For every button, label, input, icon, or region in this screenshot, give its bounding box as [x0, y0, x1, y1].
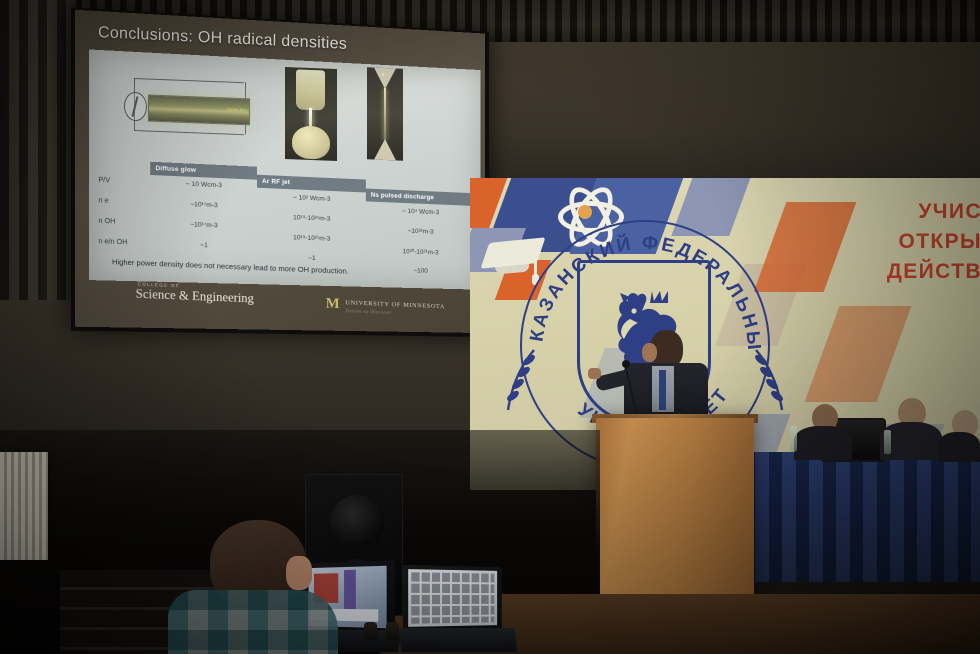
university-name: UNIVERSITY OF MINNESOTA	[345, 299, 445, 310]
audience-member-plaid-shirt	[168, 590, 338, 654]
table-header-ns-pulsed: Ns pulsed discharge	[366, 189, 475, 206]
wheat-left-icon	[502, 348, 542, 414]
laptop-keyboard-visible[interactable]	[404, 566, 516, 654]
radiator	[0, 452, 48, 560]
presenter-lanyard	[659, 370, 666, 410]
cell-rf-pv: ~ 10² Wcm-3	[257, 193, 366, 205]
row-label-noh: n OH	[98, 218, 115, 226]
discharge-channel	[384, 88, 386, 140]
diffuse-glow-circuit-figure: 15mm 1kV	[112, 71, 262, 157]
laptop2-screen[interactable]	[408, 569, 497, 627]
row-label-ne: n e	[98, 197, 108, 205]
stage-curtain-left	[0, 0, 78, 300]
cell-rf-ne: 10¹⁹-10²¹m-3	[257, 213, 366, 224]
cell-dg-noh: ~10¹⁷m-3	[150, 220, 257, 231]
cell-rf-noh: 10¹⁹-10²¹m-3	[257, 233, 366, 244]
cell-ns-pv: ~ 10⁴ Wcm-3	[366, 206, 475, 217]
atom-nucleus	[578, 205, 592, 219]
microphone-icon	[622, 360, 630, 368]
cell-dg-ratio: ~1	[150, 240, 257, 251]
jet-plasma-plume	[309, 108, 312, 127]
remote-clicker-2[interactable]	[386, 622, 399, 640]
cell-dg-pv: ~ 10 Wcm-3	[150, 179, 257, 191]
glow-discharge-tube: 15mm 1kV	[148, 95, 250, 126]
oh-density-table: Diffuse glow Ar RF jet Ns pulsed dischar…	[96, 159, 467, 266]
panel-table	[742, 452, 980, 582]
audience-member	[168, 520, 368, 654]
electrode-bottom	[374, 139, 396, 161]
panel-member-body-1	[794, 426, 852, 460]
water-bottle-1	[790, 426, 797, 452]
slogan-line-2: ОТКРЫ	[898, 230, 980, 254]
cell-ns-noh: 10²⁰-10²¹m-3	[366, 246, 475, 258]
wheat-right-icon	[748, 348, 788, 414]
slogan-line-1: УЧИС	[918, 200, 980, 224]
row-label-ratio: n e/n OH	[98, 238, 127, 246]
laptop2-onscreen-keyboard[interactable]	[411, 572, 494, 623]
ac-source-icon	[124, 92, 147, 122]
banner-shape-orange-4	[805, 306, 912, 402]
tube-label: 15mm 1kV	[227, 107, 246, 113]
jet-target-droplet	[292, 125, 330, 159]
audience-member-face	[286, 556, 312, 590]
ns-pulsed-discharge-figure: +	[367, 67, 403, 160]
college-name: Science & Engineering	[136, 286, 254, 306]
polarity-label: +	[381, 72, 385, 79]
presenter-hand-with-clicker	[588, 368, 601, 379]
conference-photo: Conclusions: OH radical densities 15mm 1…	[0, 0, 980, 654]
university-m-logo: M	[326, 296, 340, 313]
slogan-line-3: ДЕЙСТВ	[887, 260, 980, 284]
presenter-face	[642, 343, 657, 362]
table-header-ar-rf-jet: Ar RF jet	[257, 175, 366, 193]
ar-rf-jet-figure	[285, 67, 337, 161]
row-label-pv: P/V	[98, 177, 110, 185]
water-bottle-2	[884, 430, 891, 454]
laptop2-base[interactable]	[399, 628, 518, 652]
cell-ns-ne: ~10²²m-3	[366, 226, 475, 237]
university-tagline: Driven to Discover	[345, 309, 391, 316]
jet-nozzle	[296, 69, 325, 110]
panel-member-body-3	[938, 432, 980, 462]
cell-dg-ne: ~10¹⁷m-3	[150, 199, 257, 210]
